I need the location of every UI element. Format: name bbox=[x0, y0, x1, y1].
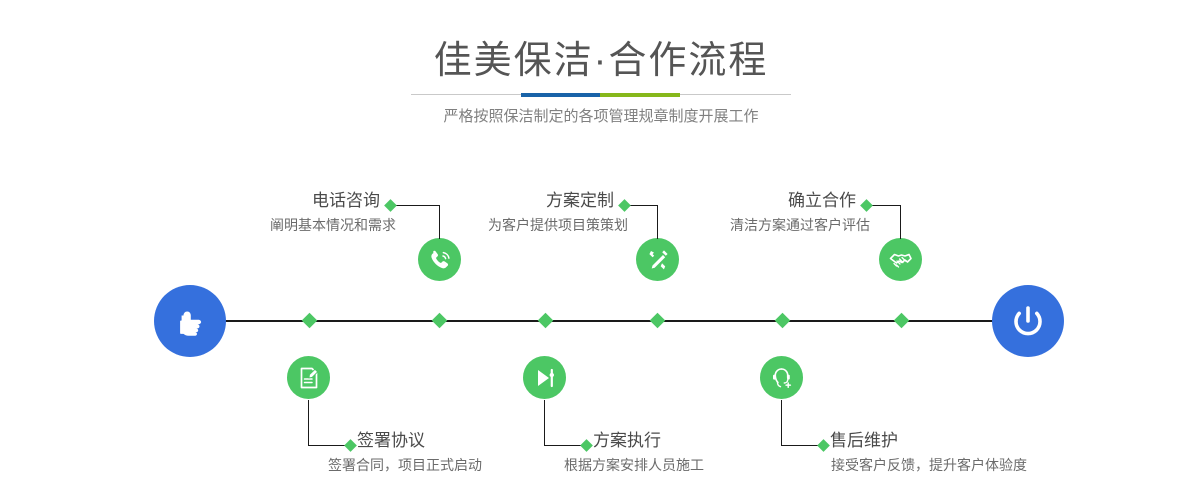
page-subtitle: 严格按照保洁制定的各项管理规章制度开展工作 bbox=[0, 106, 1202, 128]
step-marker-1 bbox=[384, 199, 397, 212]
step-icon-1 bbox=[418, 238, 461, 281]
axis-diamond-3 bbox=[538, 313, 554, 329]
step-marker-5 bbox=[860, 199, 873, 212]
step-marker-2 bbox=[344, 439, 357, 452]
axis-diamond-1 bbox=[302, 313, 318, 329]
step-desc-6: 接受客户反馈，提升客户体验度 bbox=[831, 455, 1027, 475]
step-marker-4 bbox=[580, 439, 593, 452]
axis-diamond-4 bbox=[650, 313, 666, 329]
step-desc-3: 为客户提供项目策策划 bbox=[400, 215, 628, 235]
title-divider bbox=[411, 93, 791, 97]
step-marker-3 bbox=[618, 199, 631, 212]
page-title: 佳美保洁·合作流程 bbox=[0, 38, 1202, 84]
step-icon-3 bbox=[636, 238, 679, 281]
step-connector-vertical-5 bbox=[900, 205, 901, 239]
step-desc-1: 阐明基本情况和需求 bbox=[160, 215, 396, 235]
timeline-start-endpoint bbox=[154, 285, 226, 357]
step-title-1: 电话咨询 bbox=[180, 190, 380, 212]
step-desc-5: 清洁方案通过客户评估 bbox=[642, 215, 870, 235]
step-icon-5 bbox=[879, 238, 922, 281]
timeline-end-endpoint bbox=[992, 285, 1064, 357]
step-icon-4 bbox=[523, 356, 566, 399]
step-title-3: 方案定制 bbox=[420, 190, 614, 212]
step-icon-6 bbox=[760, 356, 803, 399]
axis-diamond-5 bbox=[775, 313, 791, 329]
process-flow-infographic: 佳美保洁·合作流程 严格按照保洁制定的各项管理规章制度开展工作 bbox=[0, 0, 1202, 502]
timeline-axis bbox=[160, 320, 1042, 322]
step-title-2: 签署协议 bbox=[357, 430, 425, 452]
divider-blue-segment bbox=[521, 93, 600, 97]
step-desc-4: 根据方案安排人员施工 bbox=[564, 455, 704, 475]
step-connector-vertical-6 bbox=[781, 400, 782, 445]
step-title-5: 确立合作 bbox=[662, 190, 856, 212]
step-icon-2 bbox=[287, 356, 330, 399]
step-connector-vertical-2 bbox=[308, 400, 309, 445]
step-title-6: 售后维护 bbox=[830, 430, 898, 452]
divider-green-segment bbox=[600, 93, 680, 97]
step-connector-vertical-4 bbox=[544, 400, 545, 445]
axis-diamond-2 bbox=[432, 313, 448, 329]
step-title-4: 方案执行 bbox=[593, 430, 661, 452]
step-desc-2: 签署合同，项目正式启动 bbox=[328, 455, 482, 475]
step-marker-6 bbox=[817, 439, 830, 452]
axis-diamond-6 bbox=[894, 313, 910, 329]
